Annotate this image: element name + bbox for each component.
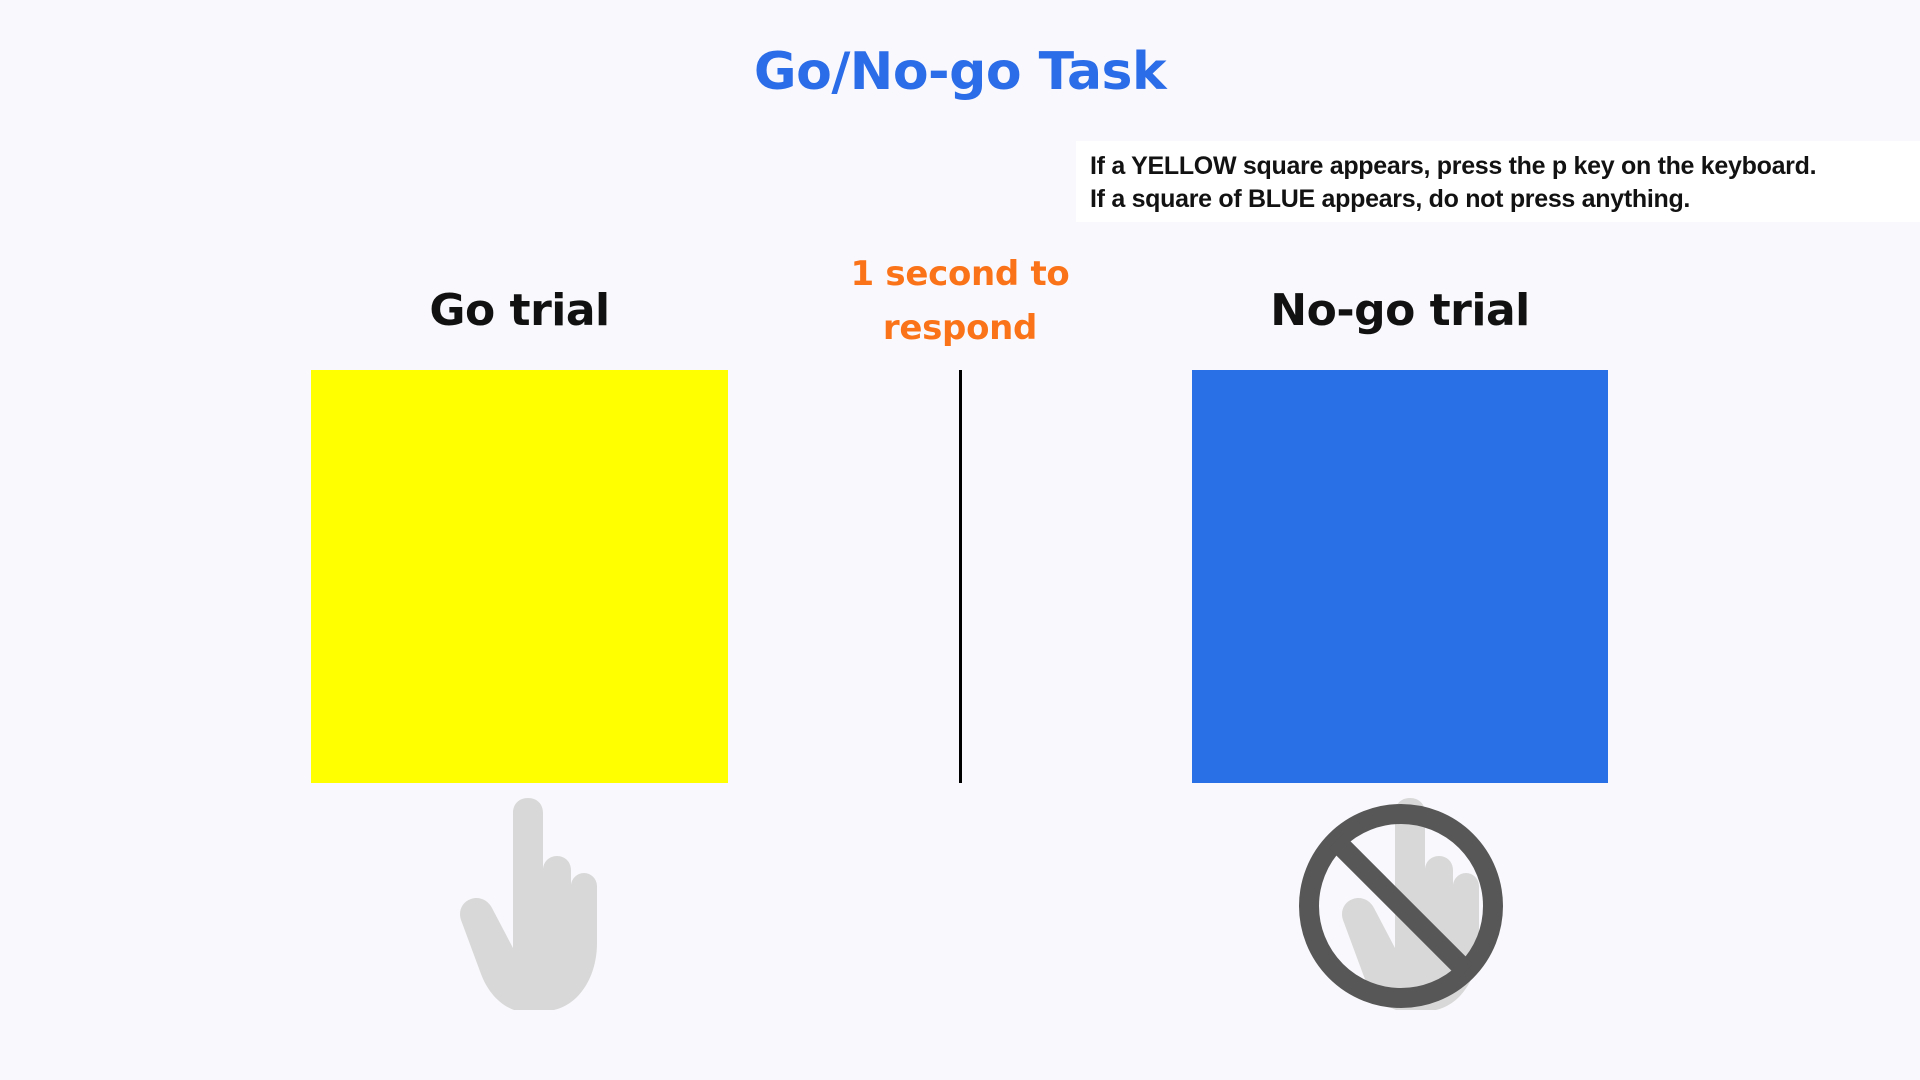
column-divider (959, 370, 962, 783)
slide-canvas: Go/No-go Task If a YELLOW square appears… (0, 0, 1920, 1080)
nogo-stimulus-square (1192, 370, 1608, 783)
no-entry-icon (1295, 800, 1507, 1012)
instruction-line-nogo: If a square of BLUE appears, do not pres… (1090, 183, 1920, 216)
page-title: Go/No-go Task (0, 42, 1920, 102)
response-window-line1: 1 second to (805, 247, 1115, 301)
go-trial-label: Go trial (311, 285, 728, 336)
nogo-trial-label: No-go trial (1192, 285, 1608, 336)
go-stimulus-square (311, 370, 728, 783)
instruction-line-go: If a YELLOW square appears, press the p … (1090, 150, 1920, 183)
pointing-hand-icon (458, 798, 598, 1010)
response-window-note: 1 second to respond (805, 247, 1115, 355)
response-window-line2: respond (805, 301, 1115, 355)
instruction-panel: If a YELLOW square appears, press the p … (1076, 141, 1920, 222)
